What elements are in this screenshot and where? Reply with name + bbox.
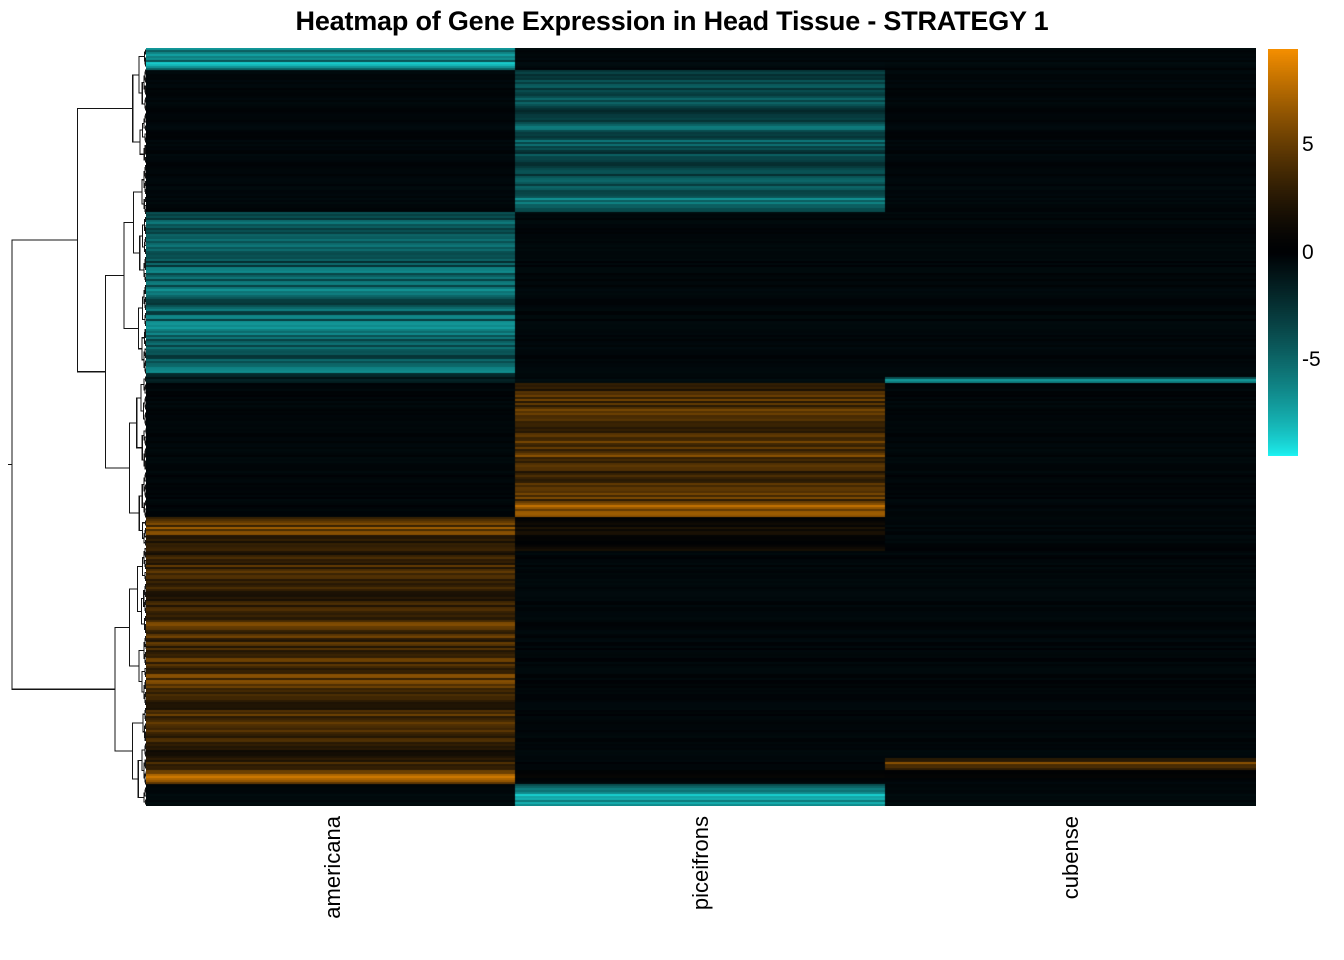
column-label-piceifrons: piceifrons — [688, 816, 714, 910]
column-label-americana: americana — [320, 816, 346, 919]
row-dendrogram — [8, 48, 148, 806]
heatmap-canvas — [146, 48, 1256, 806]
page-title: Heatmap of Gene Expression in Head Tissu… — [0, 6, 1344, 37]
heatmap-figure: Heatmap of Gene Expression in Head Tissu… — [0, 0, 1344, 960]
column-label-cubense: cubense — [1058, 816, 1084, 899]
heatmap-body — [146, 48, 1256, 806]
colorbar-gradient — [1268, 49, 1298, 456]
dendrogram-svg — [8, 48, 148, 806]
colorbar-tick-5: 5 — [1302, 133, 1314, 157]
colorbar-tick-neg5: -5 — [1302, 348, 1321, 372]
colorbar — [1268, 49, 1298, 456]
colorbar-tick-0: 0 — [1302, 241, 1314, 265]
